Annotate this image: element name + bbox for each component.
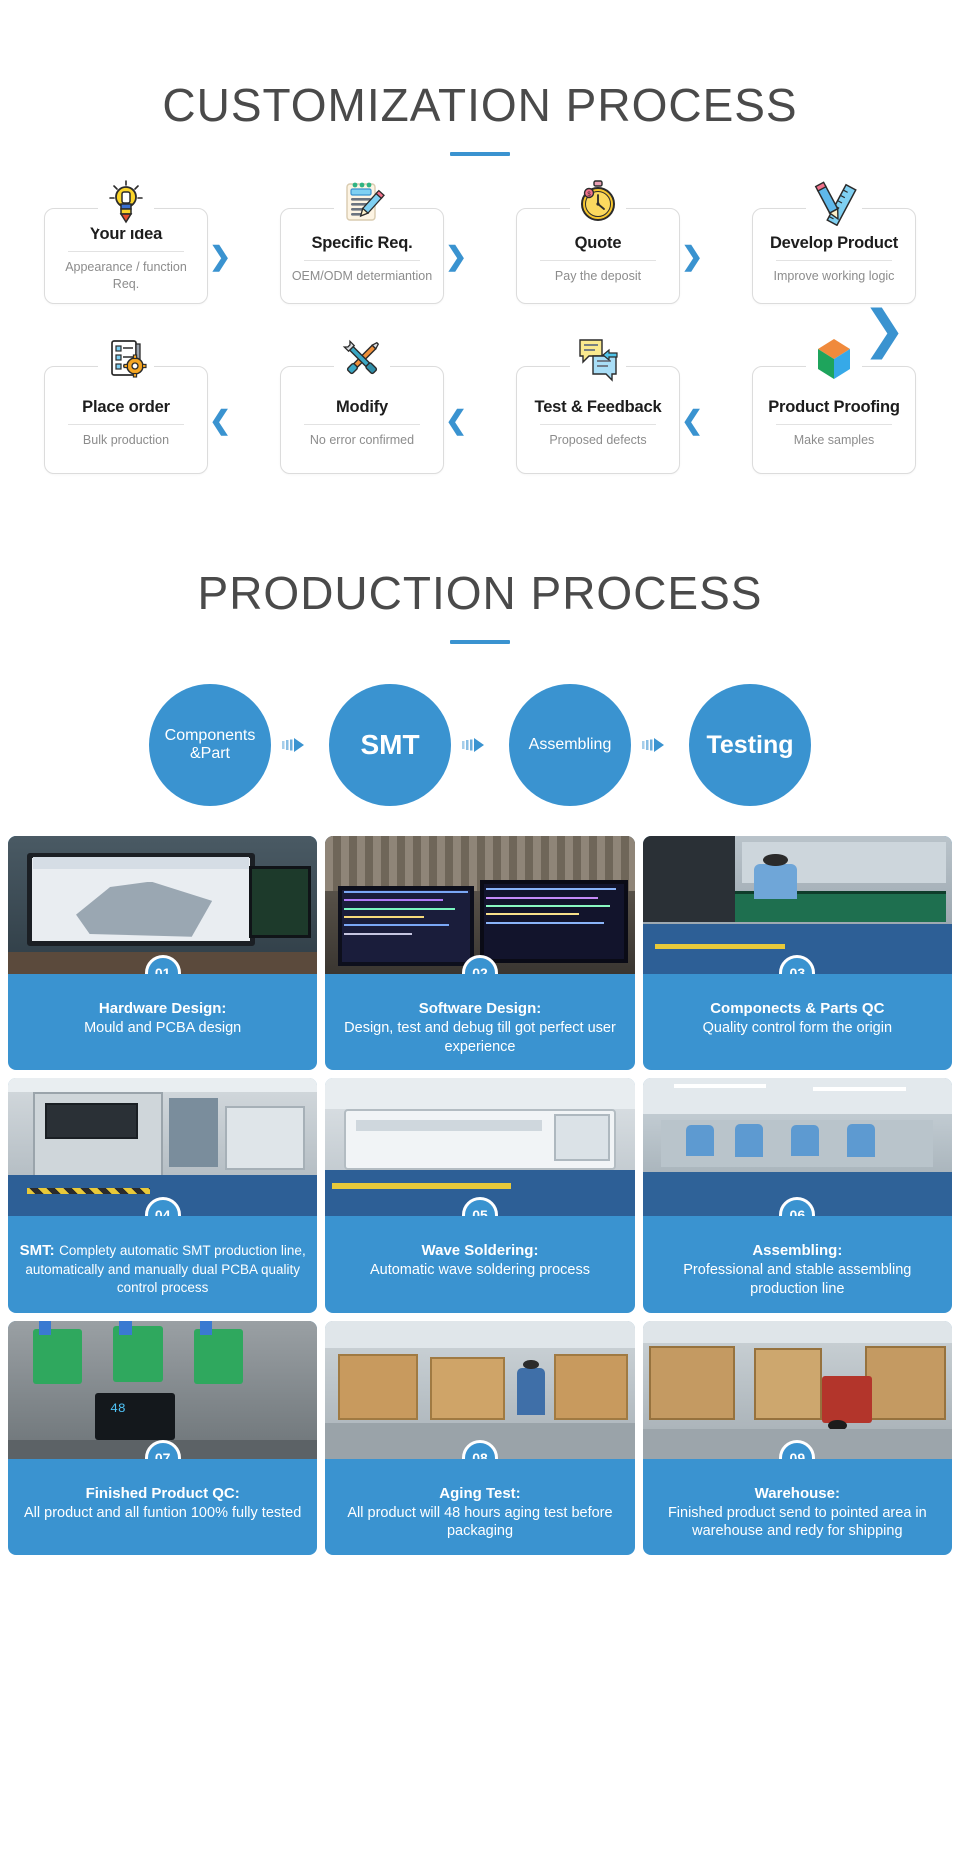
flow-step-sub: Improve working logic (768, 268, 901, 285)
production-cards-grid: 01 Hardware Design: Mould and PCBA desig… (0, 836, 960, 1555)
card-heading: Wave Soldering: (333, 1242, 626, 1261)
product-box-icon (806, 331, 862, 387)
card-caption: Wave Soldering: Automatic wave soldering… (325, 1216, 634, 1312)
card-caption: SMT: Complety automatic SMT production l… (8, 1216, 317, 1312)
card-photo-code-monitors: 02 (325, 836, 634, 974)
flow-divider (776, 260, 892, 261)
flow-step-title: Test & Feedback (535, 398, 662, 417)
flow-step-sub: Make samples (788, 432, 881, 449)
production-circle-components[interactable]: Components &Part (149, 684, 271, 806)
card-photo-smt-machine: 04 (8, 1078, 317, 1216)
flow-step-sub: Bulk production (77, 432, 175, 449)
card-body: Quality control form the origin (651, 1019, 944, 1038)
circle-label: Assembling (529, 736, 612, 754)
flow-step-place-order[interactable]: Place order Bulk production ❮ (44, 366, 208, 474)
flow-step-title: Specific Req. (311, 234, 412, 253)
flow-wrap-chevron-icon: ❯ (862, 304, 906, 356)
production-circle-testing[interactable]: Testing (689, 684, 811, 806)
production-card[interactable]: 06 Assembling: Professional and stable a… (643, 1078, 952, 1312)
arrow-separator (271, 737, 329, 753)
card-photo-assembly-line: 06 (643, 1078, 952, 1216)
card-body: Mould and PCBA design (16, 1019, 309, 1038)
production-circle-smt[interactable]: SMT (329, 684, 451, 806)
card-caption: Hardware Design: Mould and PCBA design (8, 974, 317, 1070)
card-heading: Componects & Parts QC (651, 1000, 944, 1019)
flow-divider (540, 424, 656, 425)
chevron-right-icon: ❯ (209, 243, 231, 269)
customization-section: CUSTOMIZATION PROCESS (0, 0, 960, 474)
tools-icon (334, 331, 390, 387)
card-caption: Aging Test: All product will 48 hours ag… (325, 1459, 634, 1555)
production-card[interactable]: 48 07 Finished Product QC: All product a… (8, 1321, 317, 1555)
flow-divider (540, 260, 656, 261)
card-caption: Assembling: Professional and stable asse… (643, 1216, 952, 1312)
production-title-underline (450, 640, 510, 644)
production-circles: Components &Part SMT Assembli (0, 684, 960, 806)
card-heading: Assembling: (651, 1242, 944, 1261)
production-card[interactable]: 03 Componects & Parts QC Quality control… (643, 836, 952, 1070)
flow-step-your-idea[interactable]: Your idea Appearance / function Req. ❯ (44, 208, 208, 304)
chevron-left-icon: ❮ (209, 407, 231, 433)
card-heading: Hardware Design: (16, 1000, 309, 1019)
flow-step-test-feedback[interactable]: Test & Feedback Proposed defects ❮ (516, 366, 680, 474)
feedback-chat-icon (570, 331, 626, 387)
card-heading: SMT: (20, 1242, 55, 1259)
production-card[interactable]: 08 Aging Test: All product will 48 hours… (325, 1321, 634, 1555)
card-photo-qc-worker: 03 (643, 836, 952, 974)
flow-step-sub: OEM/ODM determiantion (286, 268, 438, 285)
flow-step-title: Place order (82, 398, 170, 417)
stopwatch-icon: $ (570, 173, 626, 229)
flow-step-title: Modify (336, 398, 388, 417)
chevron-right-icon: ❯ (445, 243, 467, 269)
chevron-left-icon: ❮ (445, 407, 467, 433)
card-photo-wave-oven: 05 (325, 1078, 634, 1216)
clipboard-gear-icon (98, 331, 154, 387)
production-card[interactable]: 09 Warehouse: Finished product send to p… (643, 1321, 952, 1555)
card-caption: Componects & Parts QC Quality control fo… (643, 974, 952, 1070)
flow-divider (304, 260, 420, 261)
circle-label: SMT (360, 729, 419, 760)
flow-step-sub: Pay the deposit (549, 268, 647, 285)
card-photo-aging-warehouse: 08 (325, 1321, 634, 1459)
flow-step-sub: No error confirmed (304, 432, 420, 449)
flow-divider (776, 424, 892, 425)
flow-step-title: Quote (575, 234, 622, 253)
arrow-separator (631, 737, 689, 753)
production-card[interactable]: 01 Hardware Design: Mould and PCBA desig… (8, 836, 317, 1070)
flow-divider (304, 424, 420, 425)
flow-step-title: Develop Product (770, 234, 898, 253)
card-caption: Warehouse: Finished product send to poin… (643, 1459, 952, 1555)
circle-label: Testing (706, 731, 793, 759)
card-heading: Finished Product QC: (16, 1485, 309, 1504)
notepad-pencil-icon (334, 173, 390, 229)
card-body: Finished product send to pointed area in… (651, 1504, 944, 1542)
flow-step-develop-product[interactable]: Develop Product Improve working logic (752, 208, 916, 304)
card-heading: Aging Test: (333, 1485, 626, 1504)
card-caption: Software Design: Design, test and debug … (325, 974, 634, 1070)
flow-step-modify[interactable]: Modify No error confirmed ❮ (280, 366, 444, 474)
production-circle-assembling[interactable]: Assembling (509, 684, 631, 806)
production-card[interactable]: 02 Software Design: Design, test and deb… (325, 836, 634, 1070)
card-body: All product and all funtion 100% fully t… (16, 1504, 309, 1523)
card-body: Automatic wave soldering process (333, 1261, 626, 1280)
flow-step-quote[interactable]: $ Quote Pay the deposit ❯ (516, 208, 680, 304)
flow-step-sub: Appearance / function Req. (45, 259, 207, 293)
flow-divider (68, 424, 184, 425)
card-photo-cad-monitor: 01 (8, 836, 317, 974)
production-title: PRODUCTION PROCESS (0, 566, 960, 620)
flow-step-specific-req[interactable]: Specific Req. OEM/ODM determiantion ❯ (280, 208, 444, 304)
circle-label: Components &Part (165, 727, 256, 763)
flow-step-title: Product Proofing (768, 398, 900, 417)
card-body: Professional and stable assembling produ… (651, 1261, 944, 1299)
production-card[interactable]: 04 SMT: Complety automatic SMT productio… (8, 1078, 317, 1312)
flow-row-1: Your idea Appearance / function Req. ❯ (44, 208, 916, 304)
production-section: PRODUCTION PROCESS Components &Part SMT (0, 474, 960, 1555)
title-underline (450, 152, 510, 156)
flow-row-2: Place order Bulk production ❮ (44, 366, 916, 474)
card-heading: Software Design: (333, 1000, 626, 1019)
arrow-separator (451, 737, 509, 753)
production-card[interactable]: 05 Wave Soldering: Automatic wave solder… (325, 1078, 634, 1312)
card-body: Complety automatic SMT production line, … (25, 1243, 305, 1295)
flow-step-sub: Proposed defects (543, 432, 652, 449)
card-photo-warehouse-forklift: 09 (643, 1321, 952, 1459)
card-caption: Finished Product QC: All product and all… (8, 1459, 317, 1555)
chevron-right-icon: ❯ (681, 243, 703, 269)
card-body: All product will 48 hours aging test bef… (333, 1504, 626, 1542)
card-photo-product-qc: 48 07 (8, 1321, 317, 1459)
card-heading: Warehouse: (651, 1485, 944, 1504)
chevron-left-icon: ❮ (681, 407, 703, 433)
page-title: CUSTOMIZATION PROCESS (0, 78, 960, 132)
flow-divider (68, 251, 184, 252)
card-body: Design, test and debug till got perfect … (333, 1019, 626, 1057)
flow-step-product-proofing[interactable]: Product Proofing Make samples (752, 366, 916, 474)
ruler-pencil-icon (806, 173, 862, 229)
customization-flow: Your idea Appearance / function Req. ❯ (0, 208, 960, 474)
lightbulb-pencil-icon (98, 173, 154, 229)
